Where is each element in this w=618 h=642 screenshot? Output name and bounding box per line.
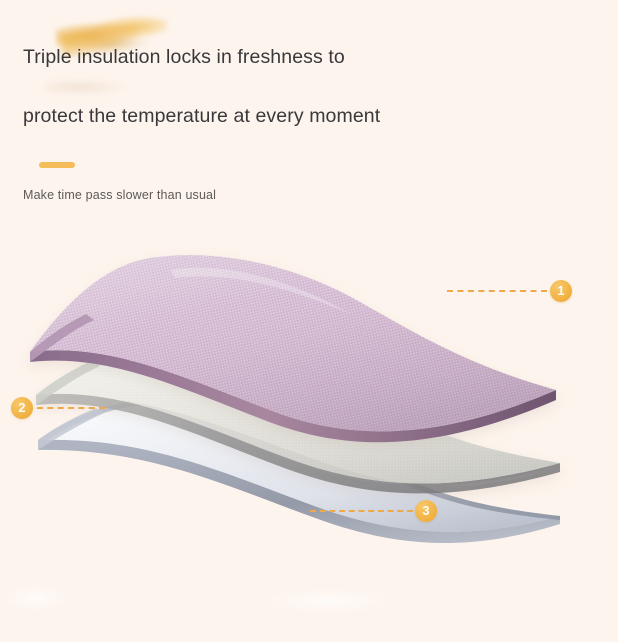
callout-3: 3 (310, 500, 450, 522)
callout-3-badge[interactable]: 3 (415, 500, 437, 522)
accent-divider-bar (39, 162, 75, 168)
subheadline: Make time pass slower than usual (23, 188, 216, 202)
legend-bar: 1 Selected comfortable fabrics 2 Pearl c… (0, 570, 618, 642)
callout-1: 1 (447, 280, 577, 302)
callout-2-badge[interactable]: 2 (11, 397, 33, 419)
callout-2-leader-line (37, 407, 105, 409)
callout-1-leader-line (447, 290, 547, 292)
gold-brush-smudge-icon (46, 80, 126, 94)
callout-3-leader-line (310, 510, 413, 512)
product-feature-page: Triple insulation locks in freshness to … (0, 0, 618, 642)
callout-1-badge[interactable]: 1 (550, 280, 572, 302)
legend-highlight-1 (4, 584, 68, 612)
header-section: Triple insulation locks in freshness to … (0, 0, 618, 240)
callout-2: 2 (11, 397, 141, 419)
headline-line-2: protect the temperature at every moment (23, 105, 380, 128)
headline-line-1: Triple insulation locks in freshness to (23, 46, 345, 69)
legend-highlight-2 (264, 588, 394, 614)
